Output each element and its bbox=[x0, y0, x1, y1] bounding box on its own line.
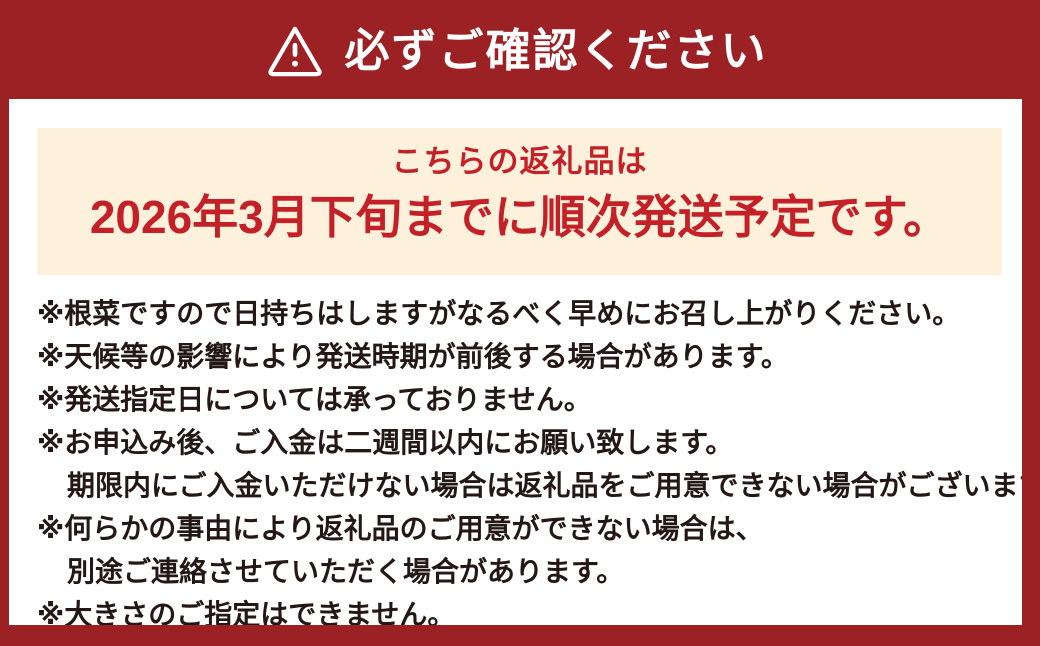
note-line: ※何らかの事由により返礼品のご用意ができない場合は、 bbox=[37, 507, 1032, 550]
shipping-notice-card: 必ずご確認ください こちらの返礼品は 2026年3月下旬までに順次発送予定です。… bbox=[0, 0, 1040, 646]
page-title: 必ずご確認ください bbox=[344, 28, 767, 73]
notice-header: 必ずご確認ください bbox=[0, 0, 1040, 99]
note-line: ※発送指定日については承っておりません。 bbox=[37, 378, 1032, 421]
note-line: ※根菜ですので日持ちはしますがなるべく早めにお召し上がりください。 bbox=[37, 292, 1032, 335]
warning-triangle-icon bbox=[266, 22, 324, 80]
shipping-schedule-callout: こちらの返礼品は 2026年3月下旬までに順次発送予定です。 bbox=[37, 128, 1002, 275]
note-line: ※お申込み後、ご入金は二週間以内にお願い致します。 bbox=[37, 421, 1032, 464]
note-line: 期限内にご入金いただけない場合は返礼品をご用意できない場合がございます。 bbox=[37, 464, 1032, 507]
note-line: ※大きさのご指定はできません。 bbox=[37, 593, 1032, 636]
note-line: 別途ご連絡させていただく場合があります。 bbox=[37, 550, 1032, 593]
notes-list: ※根菜ですので日持ちはしますがなるべく早めにお召し上がりください。 ※天候等の影… bbox=[37, 292, 1032, 636]
callout-shipping-date: 2026年3月下旬までに順次発送予定です。 bbox=[90, 191, 949, 244]
note-line: ※天候等の影響により発送時期が前後する場合があります。 bbox=[37, 335, 1032, 378]
callout-subtitle: こちらの返礼品は bbox=[392, 145, 648, 179]
